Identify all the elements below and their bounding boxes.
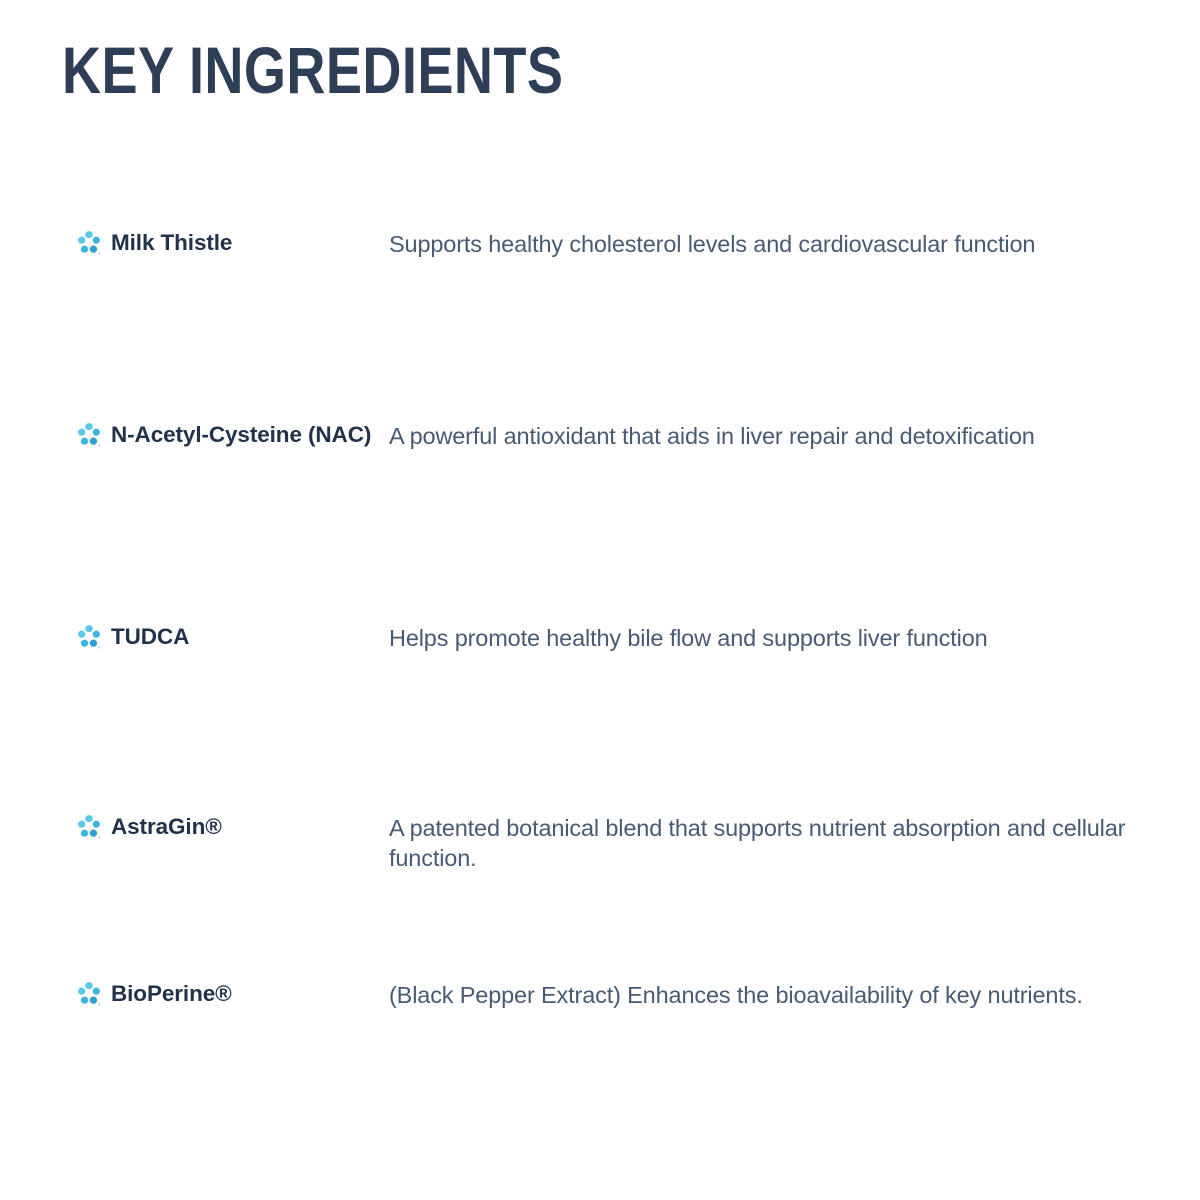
- ingredient-name-cell: N-Acetyl-Cysteine (NAC): [76, 420, 389, 449]
- petal-cluster-icon: [76, 422, 102, 448]
- ingredient-list: Milk Thistle Supports healthy cholestero…: [0, 228, 1200, 1099]
- ingredient-name-cell: BioPerine®: [76, 979, 389, 1008]
- ingredient-row: TUDCA Helps promote healthy bile flow an…: [0, 622, 1200, 812]
- ingredient-row: BioPerine® (Black Pepper Extract) Enhanc…: [0, 979, 1200, 1099]
- ingredient-name: Milk Thistle: [111, 228, 232, 257]
- ingredient-description: A patented botanical blend that supports…: [389, 812, 1134, 873]
- ingredient-name: BioPerine®: [111, 979, 232, 1008]
- ingredient-name: N-Acetyl-Cysteine (NAC): [111, 420, 371, 449]
- petal-cluster-icon: [76, 624, 102, 650]
- ingredient-description: (Black Pepper Extract) Enhances the bioa…: [389, 979, 1134, 1010]
- ingredient-description: Helps promote healthy bile flow and supp…: [389, 622, 1134, 653]
- ingredient-description: A powerful antioxidant that aids in live…: [389, 420, 1134, 451]
- ingredient-row: AstraGin® A patented botanical blend tha…: [0, 812, 1200, 979]
- ingredient-description-cell: A patented botanical blend that supports…: [389, 812, 1134, 873]
- ingredient-description-cell: A powerful antioxidant that aids in live…: [389, 420, 1134, 451]
- ingredient-name-cell: TUDCA: [76, 622, 389, 651]
- ingredient-name-cell: Milk Thistle: [76, 228, 389, 257]
- key-ingredients-page: KEY INGREDIENTS Milk Thistle S: [0, 0, 1200, 1200]
- ingredient-name: AstraGin®: [111, 812, 222, 841]
- ingredient-description-cell: (Black Pepper Extract) Enhances the bioa…: [389, 979, 1134, 1010]
- ingredient-description-cell: Helps promote healthy bile flow and supp…: [389, 622, 1134, 653]
- petal-cluster-icon: [76, 230, 102, 256]
- ingredient-name-cell: AstraGin®: [76, 812, 389, 841]
- ingredient-row: N-Acetyl-Cysteine (NAC) A powerful antio…: [0, 420, 1200, 622]
- page-title: KEY INGREDIENTS: [62, 34, 563, 106]
- ingredient-description-cell: Supports healthy cholesterol levels and …: [389, 228, 1134, 259]
- petal-cluster-icon: [76, 981, 102, 1007]
- petal-cluster-icon: [76, 814, 102, 840]
- ingredient-row: Milk Thistle Supports healthy cholestero…: [0, 228, 1200, 420]
- ingredient-description: Supports healthy cholesterol levels and …: [389, 228, 1134, 259]
- ingredient-name: TUDCA: [111, 622, 189, 651]
